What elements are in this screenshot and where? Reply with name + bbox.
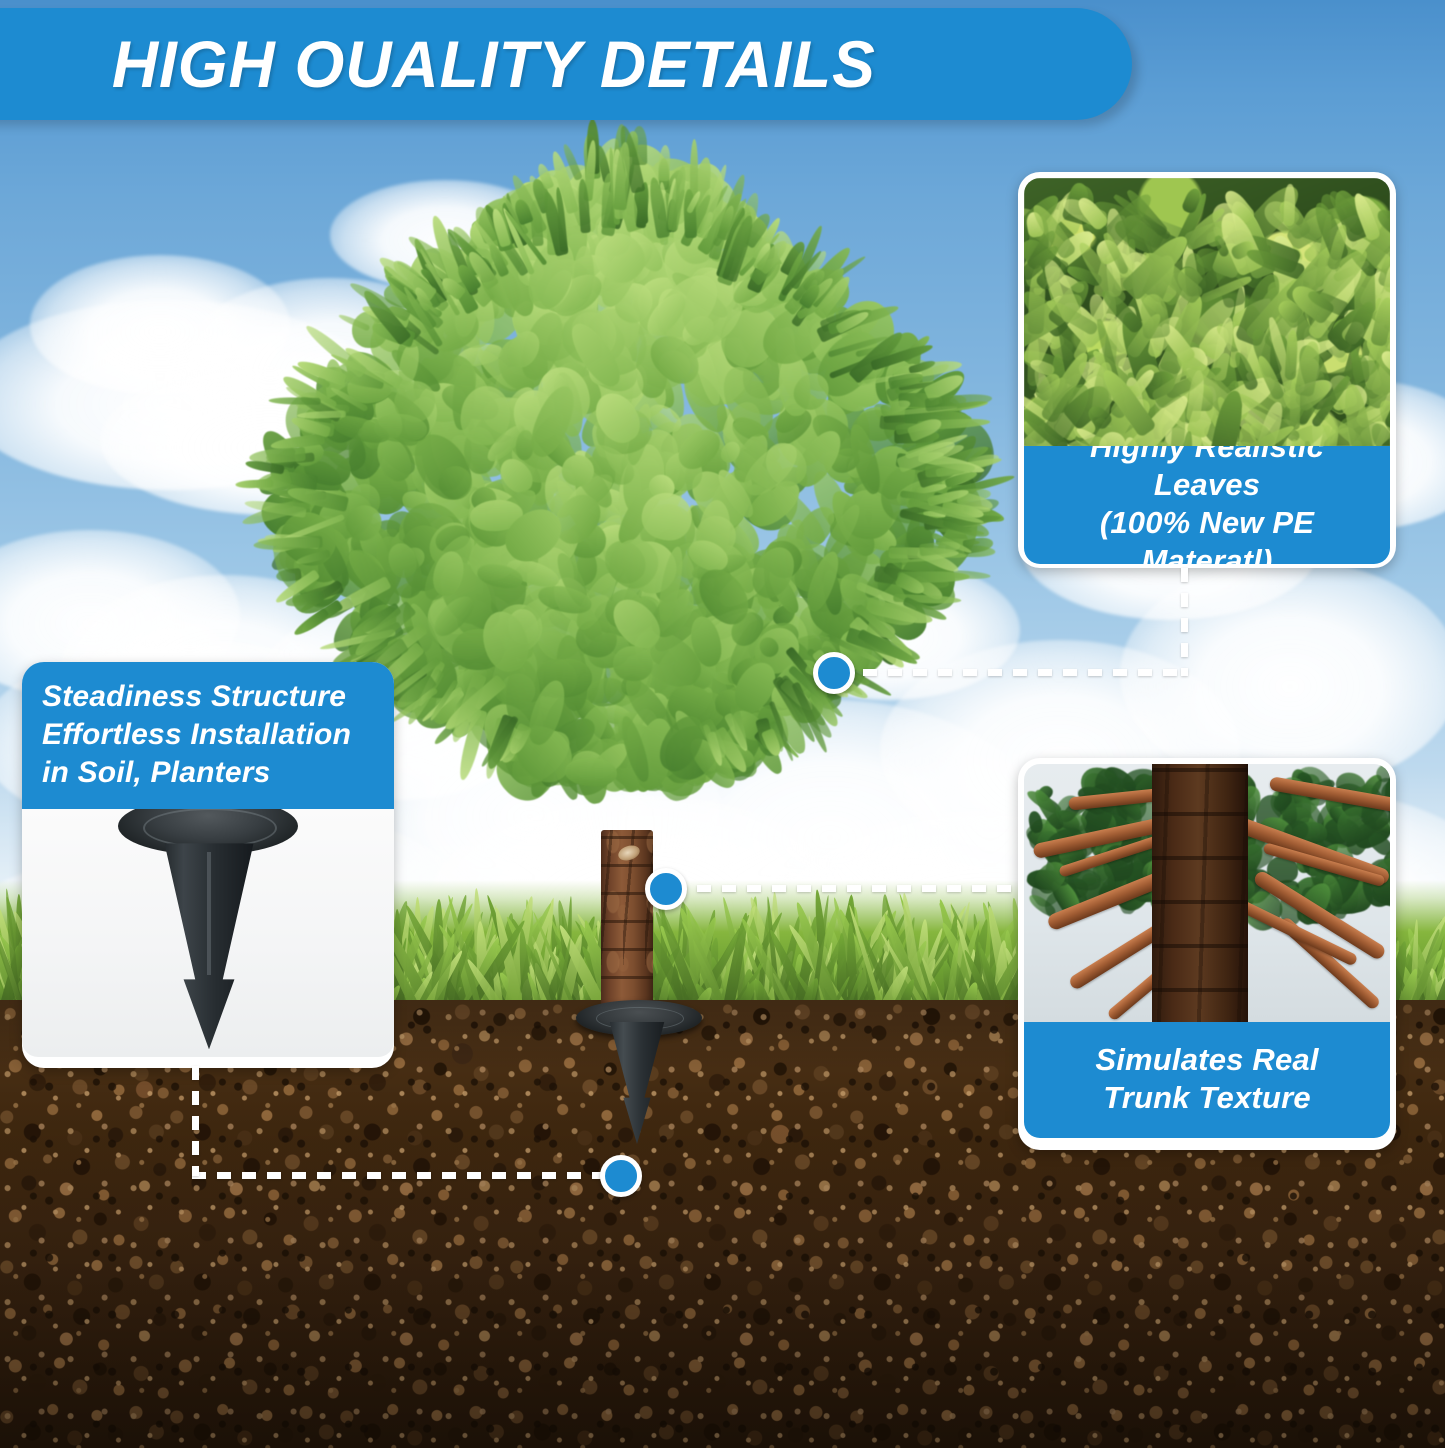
trunk-closeup-stem [1152,764,1248,1022]
stake-closeup-photo [22,809,394,1057]
callout-label-line: in Soil, Planters [42,754,374,792]
callout-label-trunk: Simulates Real Trunk Texture [1024,1022,1390,1138]
leaves-closeup-photo [1024,178,1390,446]
trunk-connector-dot[interactable] [645,868,687,910]
leaves-connector-dot[interactable] [813,652,855,694]
leaves-connector-horizontal [838,669,1188,676]
leaf-fronds [1024,178,1390,446]
header-banner: HIGH OUALITY DETAILS [0,8,1132,120]
callout-label-line: (100% New PE Materatl) [1040,504,1374,568]
callout-label-line: Steadiness Structure [42,678,374,716]
callout-card-trunk[interactable]: Simulates Real Trunk Texture [1018,758,1396,1150]
page-title: HIGH OUALITY DETAILS [112,31,876,97]
foliage-spike [658,144,671,181]
leaves-connector-vertical [1181,568,1188,676]
stake-connector-vertical [192,1066,199,1176]
stake-connector-dot[interactable] [600,1155,642,1197]
stake-connector-horizontal [192,1172,622,1179]
trunk-connector-horizontal [672,885,1022,892]
callout-card-stake[interactable]: Steadiness Structure Effortless Installa… [22,662,394,1068]
callout-label-line: Simulates Real [1040,1041,1374,1079]
callout-card-leaves[interactable]: Highly Realistic Leaves (100% New PE Mat… [1018,172,1396,568]
callout-label-leaves: Highly Realistic Leaves (100% New PE Mat… [1024,446,1390,564]
stake-cone-spike [156,843,262,1049]
trunk-closeup-photo [1024,764,1390,1022]
leaf-frond [1283,184,1295,226]
callout-label-line: Effortless Installation [42,716,374,754]
callout-label-stake: Steadiness Structure Effortless Installa… [22,662,394,809]
infographic-stage: Highly Realistic Leaves (100% New PE Mat… [0,0,1445,1448]
callout-label-line: Trunk Texture [1040,1079,1374,1117]
